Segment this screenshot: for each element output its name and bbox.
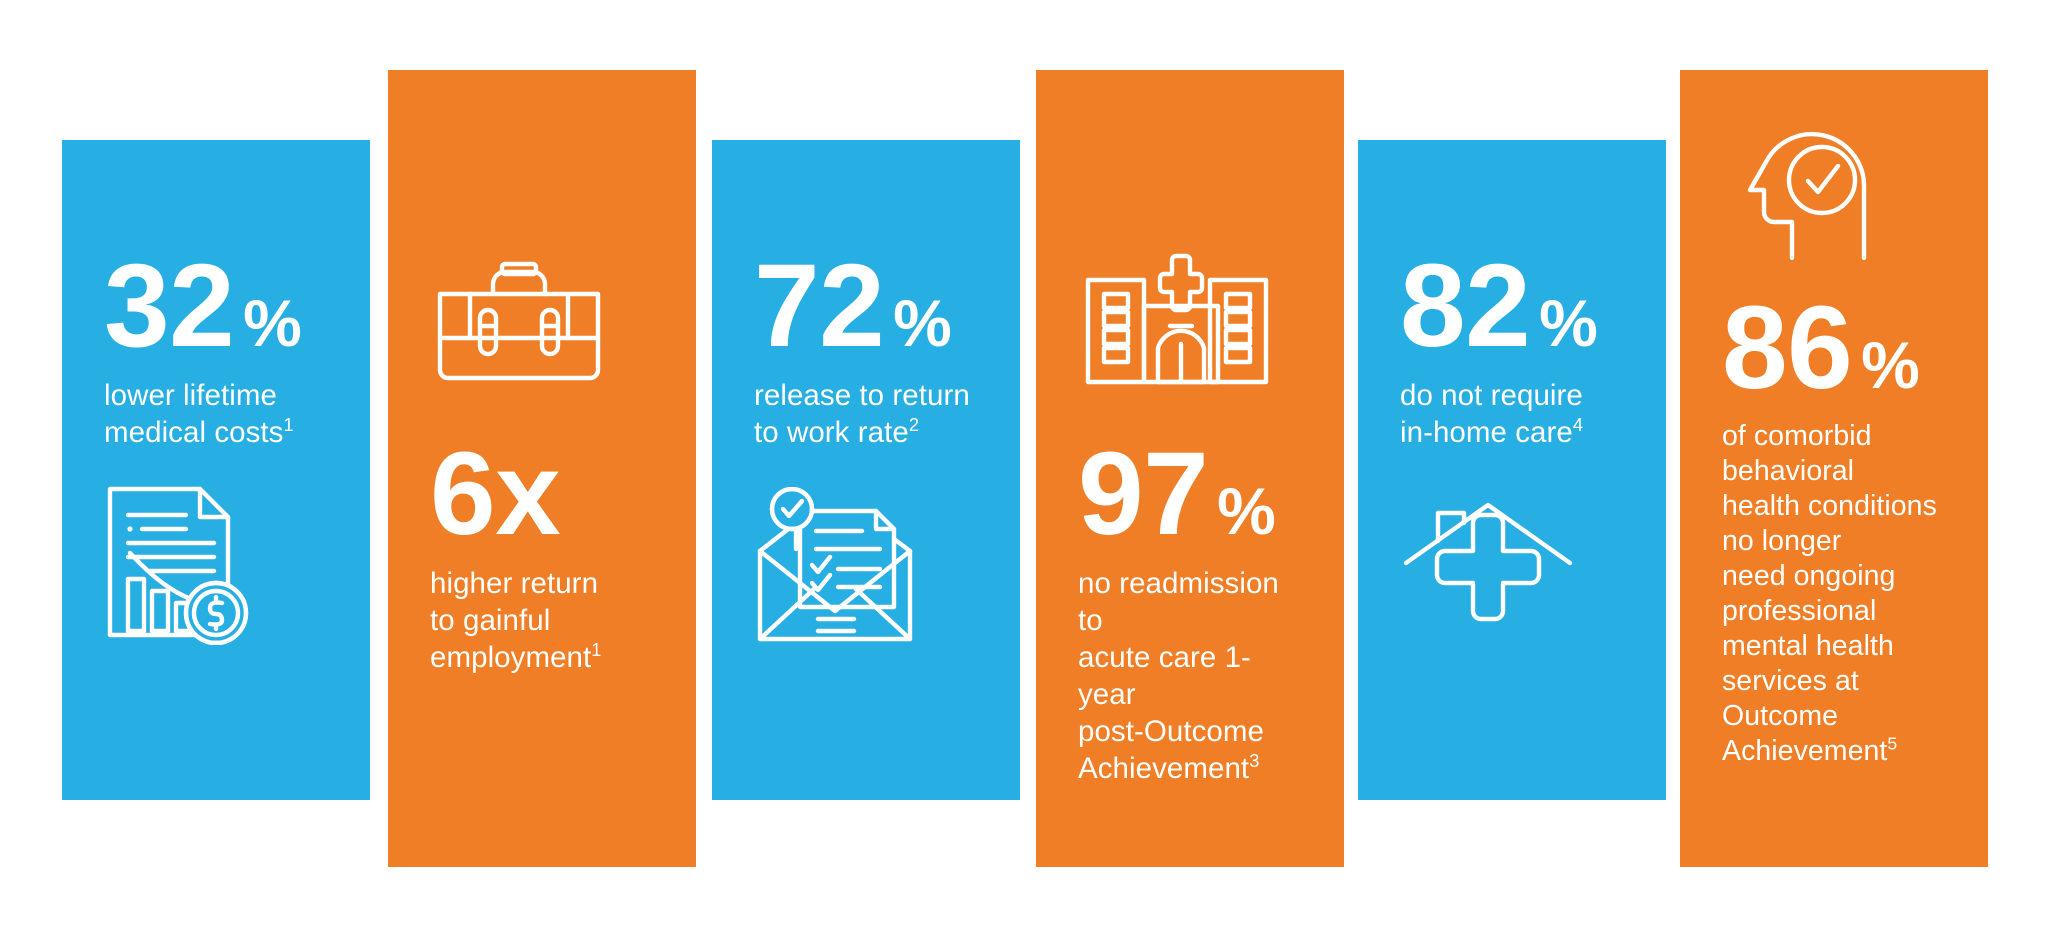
stat-panel-release-to-return-to-work-rate: 72% release to return to work rate2 <box>712 140 1020 800</box>
footnote-marker: 1 <box>283 414 293 435</box>
stat-unit: % <box>1539 286 1596 360</box>
stat-value: 32% <box>104 252 328 361</box>
stat-caption: of comorbid behavioral health conditions… <box>1722 419 1946 769</box>
stat-value: 97% <box>1078 440 1302 549</box>
stat-unit: % <box>1217 474 1274 548</box>
stat-value: 82% <box>1400 252 1624 361</box>
footnote-marker: 4 <box>1573 414 1583 435</box>
stat-value: 72% <box>754 252 978 361</box>
footnote-marker: 3 <box>1249 751 1259 772</box>
stat-panel-no-readmission-to-acute-care: 97% no readmission to acute care 1-year … <box>1036 70 1344 867</box>
stat-caption: higher return to gainful employment1 <box>430 565 654 676</box>
footnote-marker: 5 <box>1887 733 1897 753</box>
stat-panel-lower-lifetime-medical-costs: 32% lower lifetime medical costs1 <box>62 140 370 800</box>
stat-caption: release to return to work rate2 <box>754 377 978 451</box>
stat-number: 97 <box>1078 428 1208 560</box>
footnote-marker: 2 <box>909 414 919 435</box>
stat-unit: % <box>243 286 300 360</box>
stat-number: 82 <box>1400 240 1530 372</box>
briefcase-icon <box>436 260 654 382</box>
caption-text: do not require in-home care <box>1400 379 1583 449</box>
caption-text: lower lifetime medical costs <box>104 379 283 449</box>
stat-unit: x <box>495 428 556 560</box>
stat-unit: % <box>893 286 950 360</box>
stat-unit: % <box>1861 328 1918 402</box>
stat-number: 72 <box>754 240 884 372</box>
head-profile-check-icon <box>1746 128 1946 260</box>
stat-panel-do-not-require-in-home-care: 82% do not require in-home care4 <box>1358 140 1666 800</box>
stat-panel-comorbid-behavioral-health-conditions: 86% of comorbid behavioral health condit… <box>1680 70 1988 867</box>
stat-value: 6x <box>430 440 654 549</box>
document-declining-bar-chart-dollar-icon <box>104 485 328 645</box>
caption-text: release to return to work rate <box>754 379 970 449</box>
footnote-marker: 1 <box>591 639 601 660</box>
stat-number: 32 <box>104 240 234 372</box>
infographic-canvas: 32% lower lifetime medical costs1 <box>0 0 2048 931</box>
hospital-building-icon <box>1082 252 1302 388</box>
stat-panel-higher-return-to-gainful-employment: 6x higher return to gainful employment1 <box>388 70 696 867</box>
caption-text: of comorbid behavioral health conditions… <box>1722 420 1937 767</box>
envelope-checklist-approved-icon <box>754 487 978 645</box>
stat-number: 6 <box>430 428 495 560</box>
stat-value: 86% <box>1722 294 1946 403</box>
stat-caption: lower lifetime medical costs1 <box>104 377 328 451</box>
stat-caption: do not require in-home care4 <box>1400 377 1624 451</box>
house-medical-cross-icon <box>1402 499 1624 633</box>
caption-text: higher return to gainful employment <box>430 567 598 674</box>
stat-caption: no readmission to acute care 1-year post… <box>1078 565 1302 788</box>
stat-number: 86 <box>1722 282 1852 414</box>
